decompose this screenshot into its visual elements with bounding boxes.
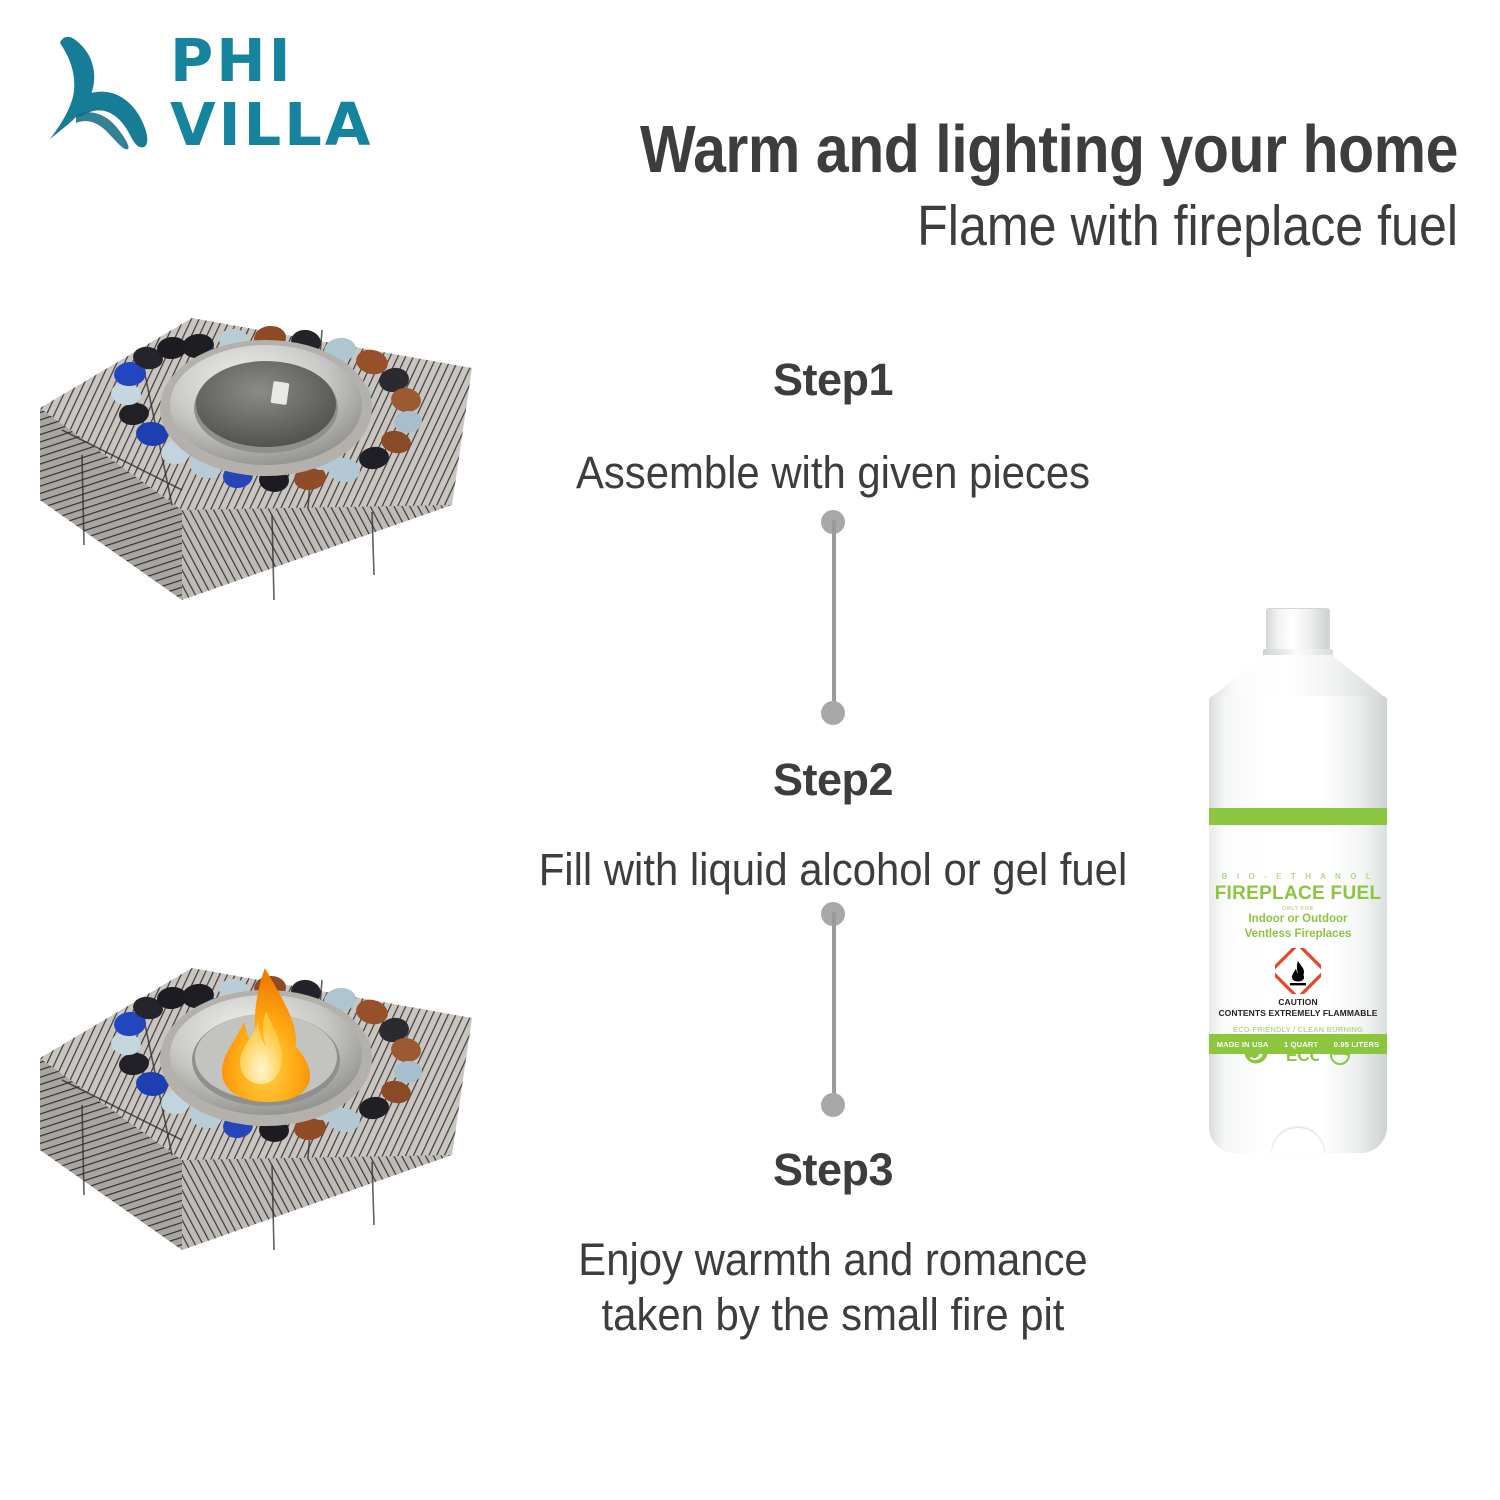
headline-sub: Flame with fireplace fuel bbox=[569, 192, 1458, 260]
connector-line bbox=[832, 912, 836, 1107]
step2-description: Fill with liquid alcohol or gel fuel bbox=[480, 842, 1187, 897]
label-bioethanol: B I O - E T H A N O L bbox=[1209, 872, 1387, 881]
step1-description: Assemble with given pieces bbox=[480, 445, 1187, 500]
label-product-title: FIREPLACE FUEL bbox=[1209, 883, 1387, 905]
connector-dot-bottom bbox=[821, 701, 845, 725]
label-content: B I O - E T H A N O L FIREPLACE FUEL ONL… bbox=[1209, 825, 1387, 1034]
brand-name-line2: VILLA bbox=[170, 93, 400, 157]
step-connector-1 bbox=[821, 510, 847, 725]
label-stripe-top bbox=[1209, 808, 1387, 825]
label-stripe-bottom: MADE IN USA 1 QUART 0.95 LITERS bbox=[1209, 1034, 1387, 1054]
label-volume-liters: 0.95 LITERS bbox=[1334, 1040, 1380, 1049]
label-use-line-2: Ventless Fireplaces bbox=[1209, 927, 1387, 942]
bottle-base-notch bbox=[1272, 1128, 1324, 1154]
bottle-cap bbox=[1266, 608, 1330, 650]
bottle-shoulder bbox=[1209, 655, 1387, 699]
step-connector-2 bbox=[821, 902, 847, 1117]
brand-name-line1: PHI bbox=[170, 29, 400, 93]
step3-description: Enjoy warmth and romance taken by the sm… bbox=[480, 1232, 1187, 1342]
connector-line bbox=[832, 520, 836, 715]
phi-villa-swoosh-icon bbox=[30, 27, 155, 157]
label-volume-quart: 1 QUART bbox=[1284, 1040, 1318, 1049]
headline-main: Warm and lighting your home bbox=[569, 112, 1458, 188]
step1-title: Step1 bbox=[483, 355, 1183, 405]
step3-title: Step3 bbox=[483, 1145, 1183, 1195]
square-concrete-fire-pit-lit bbox=[22, 950, 482, 1390]
brand-logo: PHI VILLA bbox=[30, 25, 390, 160]
fireplace-fuel-bottle: B I O - E T H A N O L FIREPLACE FUEL ONL… bbox=[1203, 608, 1393, 1153]
connector-dot-bottom bbox=[821, 1093, 845, 1117]
brand-wordmark: PHI VILLA bbox=[170, 29, 400, 159]
label-use-line-1: Indoor or Outdoor bbox=[1209, 912, 1387, 927]
label-eco-tag: ECO-FRIENDLY / CLEAN BURNING bbox=[1209, 1025, 1387, 1034]
headline-block: Warm and lighting your home Flame with f… bbox=[448, 112, 1458, 260]
bottle-label: B I O - E T H A N O L FIREPLACE FUEL ONL… bbox=[1209, 808, 1387, 1054]
step2-title: Step2 bbox=[483, 755, 1183, 805]
flammable-hazard-diamond-icon bbox=[1275, 948, 1321, 994]
step3-description-line2: taken by the small fire pit bbox=[480, 1287, 1187, 1342]
square-concrete-fire-pit-unlit bbox=[22, 300, 482, 740]
label-made-in: MADE IN USA bbox=[1217, 1040, 1269, 1049]
step3-description-line1: Enjoy warmth and romance bbox=[480, 1232, 1187, 1287]
label-flammable-warning: CONTENTS EXTREMELY FLAMMABLE bbox=[1209, 1008, 1387, 1019]
label-caution: CAUTION bbox=[1209, 997, 1387, 1008]
